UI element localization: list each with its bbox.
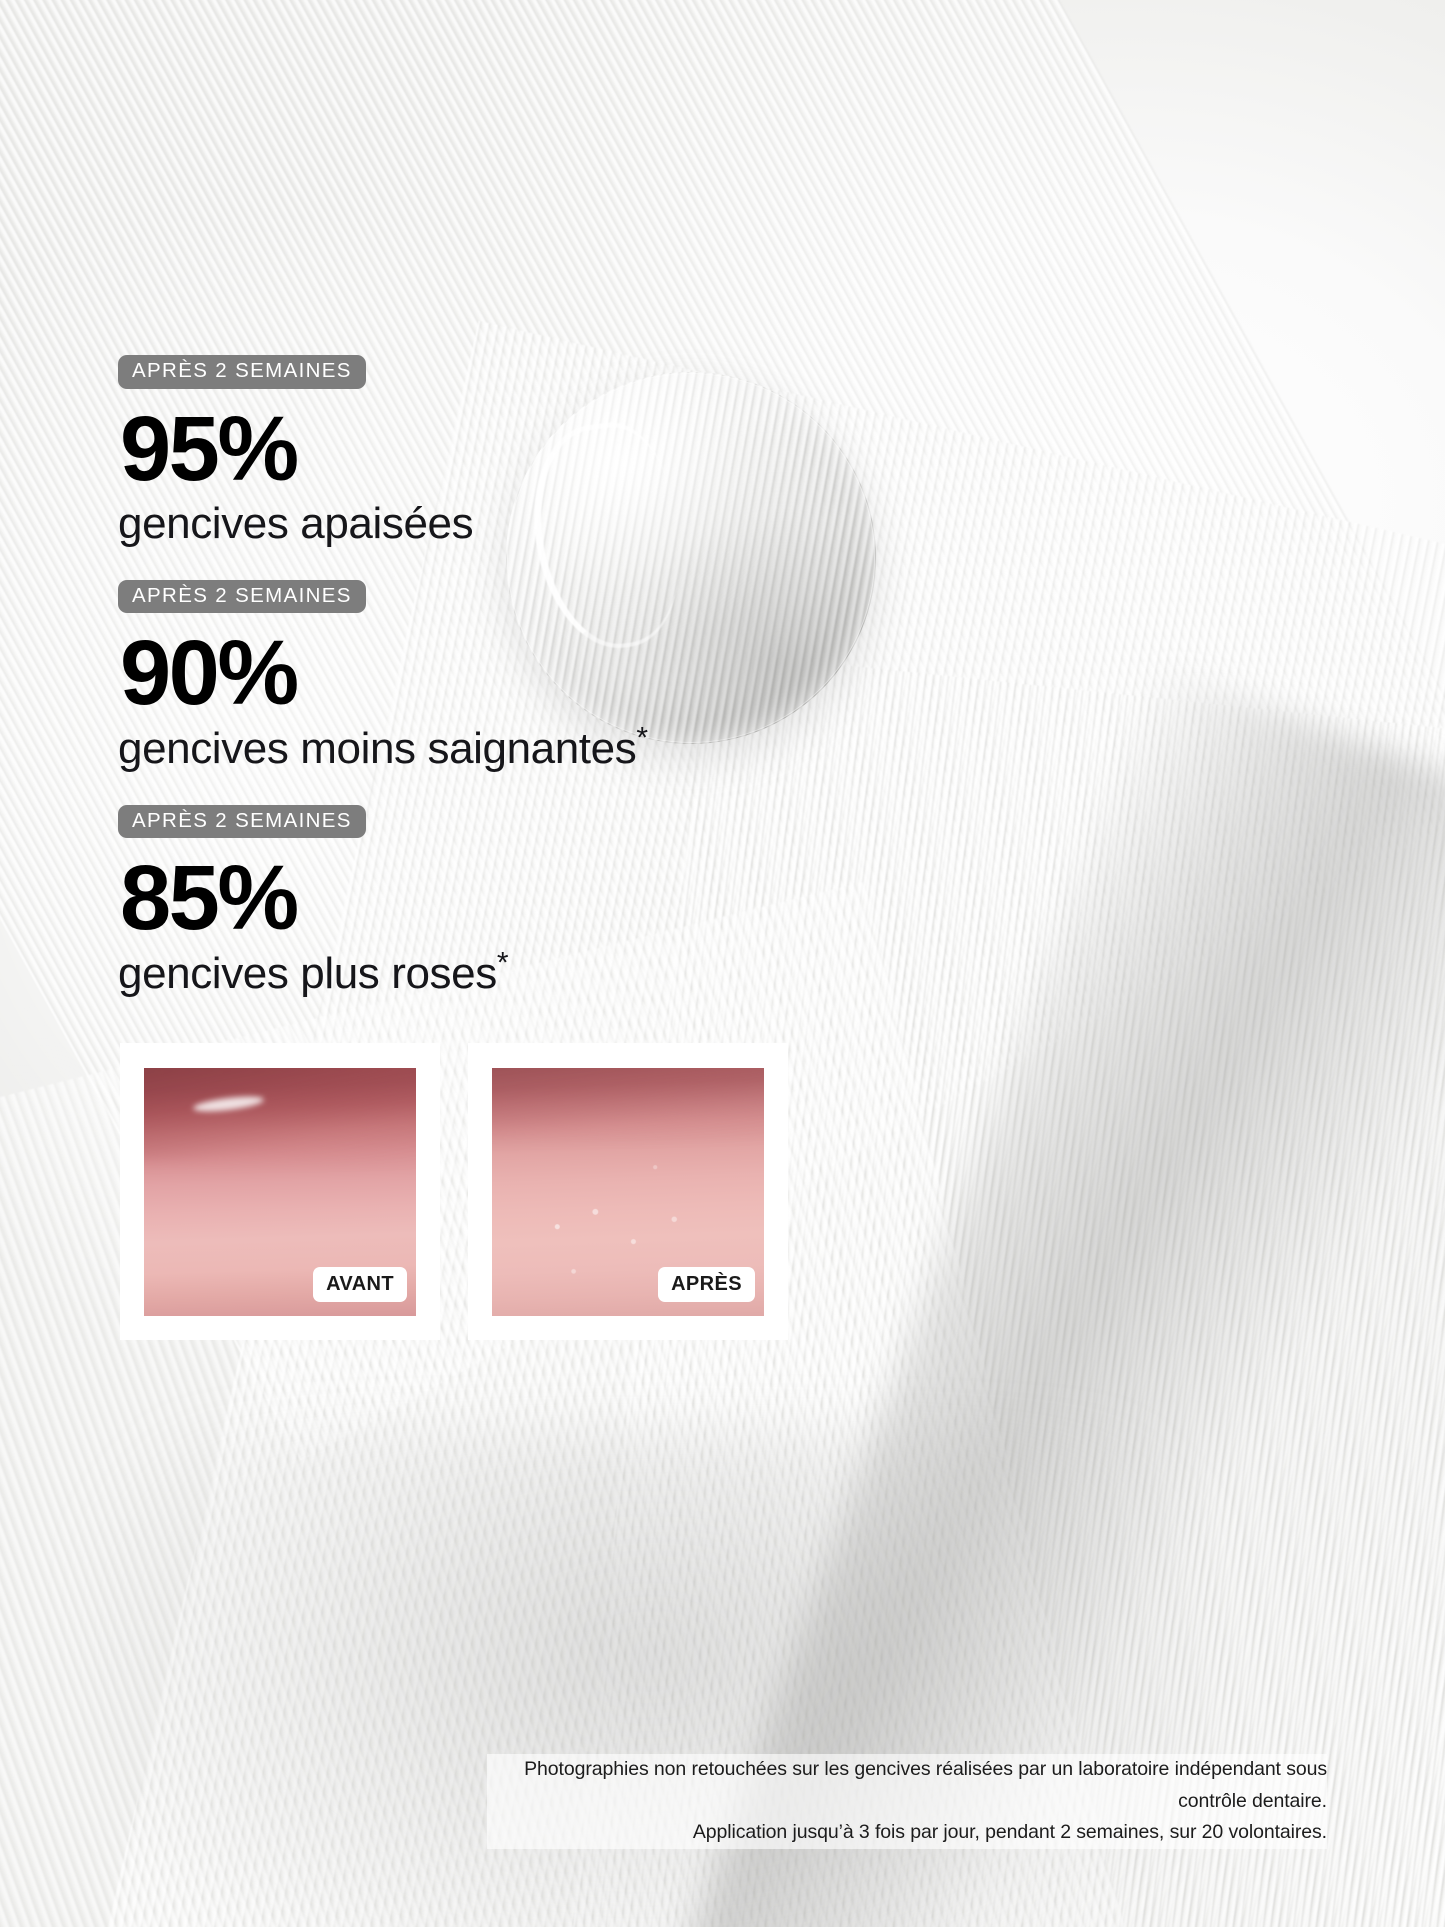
stat-value-3: 85% [120, 852, 938, 946]
after-tag: APRÈS [658, 1267, 755, 1302]
stat-badge-1: APRÈS 2 SEMAINES [118, 355, 366, 389]
stat-label-1: gencives apaisées [118, 500, 938, 548]
before-after-comparison: AVANT APRÈS [120, 1043, 788, 1340]
stat-block-2: APRÈS 2 SEMAINES 90% gencives moins saig… [118, 580, 938, 773]
promo-claims-panel: APRÈS 2 SEMAINES 95% gencives apaisées A… [0, 0, 1445, 1927]
stat-label-2: gencives moins saignantes* [118, 725, 938, 773]
stat-label-text-1: gencives apaisées [118, 499, 473, 548]
statistics-list: APRÈS 2 SEMAINES 95% gencives apaisées A… [118, 355, 938, 998]
stat-asterisk-2: * [636, 722, 647, 755]
stat-value-2: 90% [120, 627, 938, 721]
footnote-line-1: Photographies non retouchées sur les gen… [487, 1754, 1327, 1817]
stat-asterisk-3: * [497, 946, 508, 979]
footnote: Photographies non retouchées sur les gen… [487, 1754, 1327, 1849]
stat-label-3: gencives plus roses* [118, 950, 938, 998]
before-tag: AVANT [313, 1267, 407, 1302]
stat-value-1: 95% [120, 403, 938, 497]
stat-label-text-2: gencives moins saignantes [118, 724, 636, 773]
before-photo: AVANT [144, 1068, 416, 1316]
footnote-line-2: Application jusqu’à 3 fois par jour, pen… [487, 1817, 1327, 1849]
after-card: APRÈS [468, 1043, 788, 1340]
stat-block-1: APRÈS 2 SEMAINES 95% gencives apaisées [118, 355, 938, 548]
background-shadow [87, 1426, 1214, 1927]
stat-badge-3: APRÈS 2 SEMAINES [118, 805, 366, 839]
stat-block-3: APRÈS 2 SEMAINES 85% gencives plus roses… [118, 805, 938, 998]
stat-badge-2: APRÈS 2 SEMAINES [118, 580, 366, 614]
stat-label-text-3: gencives plus roses [118, 949, 497, 998]
before-card: AVANT [120, 1043, 440, 1340]
after-photo: APRÈS [492, 1068, 764, 1316]
